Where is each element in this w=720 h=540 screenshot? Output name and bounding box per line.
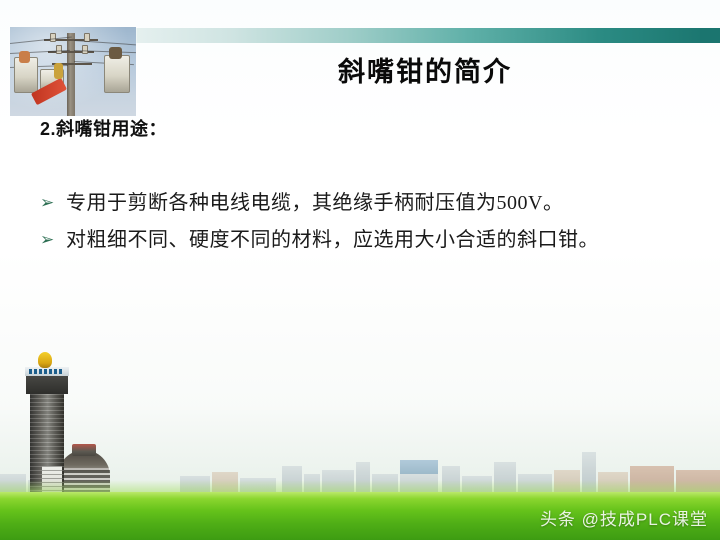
tower-annex-rooftop — [72, 444, 96, 456]
photo-worker-left — [19, 51, 30, 63]
utility-pole-photo — [10, 27, 136, 116]
bullet-text: 对粗细不同、硬度不同的材料，应选用大小合适的斜口钳。 — [66, 222, 698, 259]
section-subheading: 2.斜嘴钳用途： — [40, 115, 167, 141]
bullet-item: ➢ 专用于剪断各种电线电缆，其绝缘手柄耐压值为500V。 — [38, 185, 698, 222]
tower-cap — [26, 374, 68, 394]
bullet-text: 专用于剪断各种电线电缆，其绝缘手柄耐压值为500V。 — [66, 185, 698, 222]
photo-bucket-right — [104, 55, 130, 93]
slide-canvas: 斜嘴钳的简介 2.斜嘴钳用途： ➢ 专用于剪断各种电线电缆，其绝缘手柄耐压值为5… — [0, 0, 720, 540]
photo-utility-pole — [67, 33, 75, 116]
bullet-list: ➢ 专用于剪断各种电线电缆，其绝缘手柄耐压值为500V。 ➢ 对粗细不同、硬度不… — [38, 185, 698, 259]
arrow-bullet-icon: ➢ — [40, 185, 60, 222]
photo-worker-climbing — [54, 63, 63, 79]
arrow-bullet-icon: ➢ — [40, 222, 60, 259]
page-title: 斜嘴钳的简介 — [180, 50, 670, 89]
bullet-item: ➢ 对粗细不同、硬度不同的材料，应选用大小合适的斜口钳。 — [38, 222, 698, 259]
tower-golden-spire — [38, 352, 52, 368]
tower-sign-board — [25, 367, 69, 376]
tower-sign-text — [29, 369, 63, 374]
skyline-billboard — [400, 460, 438, 474]
watermark-text: 头条 @技成PLC课堂 — [540, 505, 708, 530]
header-gradient-bar — [61, 28, 720, 43]
photo-worker-right — [109, 47, 122, 59]
header-bar-end-cap — [700, 28, 720, 43]
